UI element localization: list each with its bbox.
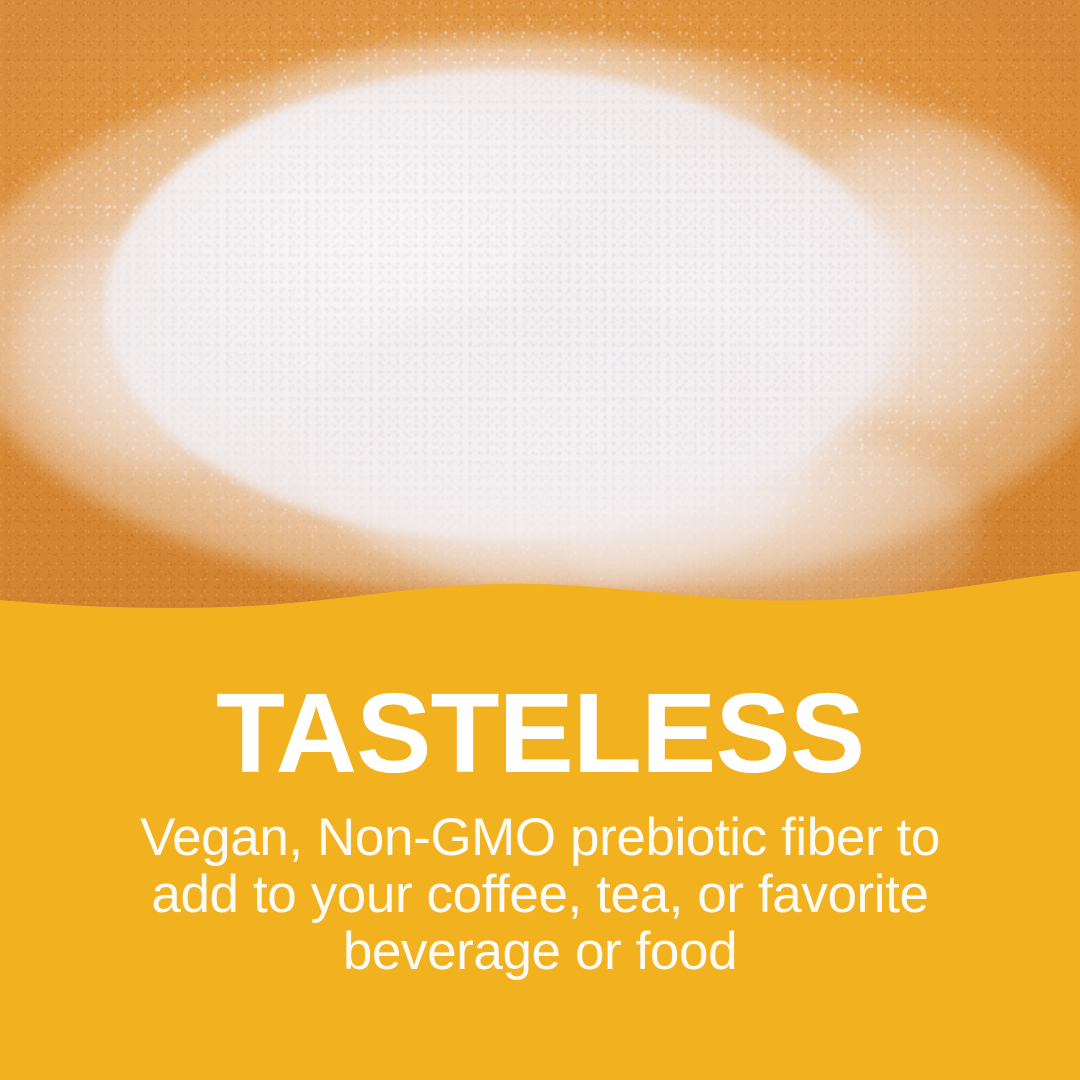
description-line-1: Vegan, Non-GMO prebiotic fiber to xyxy=(0,809,1080,866)
page-title: TASTELESS xyxy=(0,660,1080,791)
product-description: Vegan, Non-GMO prebiotic fiber to add to… xyxy=(0,791,1080,980)
description-line-2: add to your coffee, tea, or favorite xyxy=(0,866,1080,923)
promo-text-block: TASTELESS Vegan, Non-GMO prebiotic fiber… xyxy=(0,660,1080,980)
product-feature-card: TASTELESS Vegan, Non-GMO prebiotic fiber… xyxy=(0,0,1080,1080)
description-line-3: beverage or food xyxy=(0,923,1080,980)
